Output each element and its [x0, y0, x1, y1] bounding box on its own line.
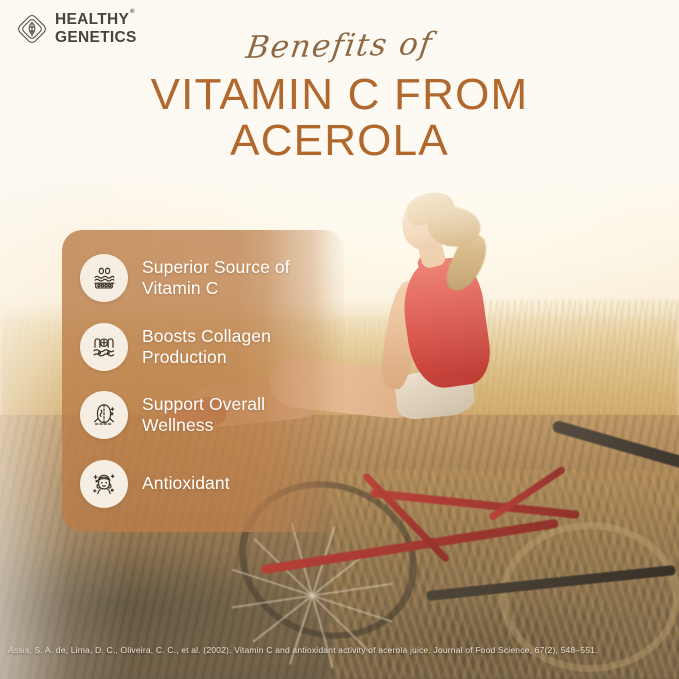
list-item: Superior Source of Vitamin C — [80, 254, 334, 302]
glowing-face-sparkle-icon — [80, 460, 128, 508]
list-item: Antioxidant — [80, 460, 334, 508]
page-title: VITAMIN C FROM ACEROLA — [0, 72, 679, 164]
woman-figure — [380, 185, 580, 515]
collagen-molecule-icon — [80, 323, 128, 371]
page-title-line1: VITAMIN C FROM — [151, 70, 529, 119]
list-item-label: Boosts Collagen Production — [142, 326, 332, 368]
brand-name-line1: HEALTHY® — [55, 12, 137, 28]
page-title-line2: ACEROLA — [0, 118, 679, 164]
registered-mark: ® — [130, 9, 135, 15]
infographic-canvas: HEALTHY® GENETICS Benefits of VITAMIN C … — [0, 0, 679, 679]
list-item-label: Antioxidant — [142, 473, 230, 494]
citation-text: Assis, S. A. de, Lima, D. C., Oliveira, … — [8, 644, 676, 656]
benefits-list: Superior Source of Vitamin C — [62, 230, 344, 532]
face-wellness-icon — [80, 391, 128, 439]
list-item-label: Superior Source of Vitamin C — [142, 257, 332, 299]
list-item: Support Overall Wellness — [80, 391, 334, 439]
list-item-label: Support Overall Wellness — [142, 394, 332, 436]
list-item: Boosts Collagen Production — [80, 323, 334, 371]
skin-layers-icon — [80, 254, 128, 302]
header: HEALTHY® GENETICS Benefits of VITAMIN C … — [0, 0, 679, 175]
